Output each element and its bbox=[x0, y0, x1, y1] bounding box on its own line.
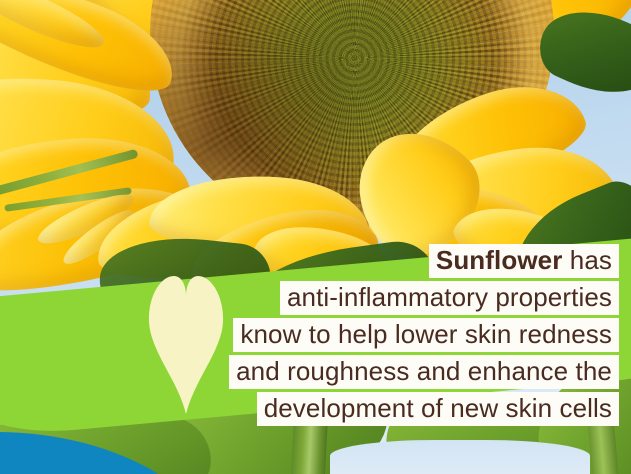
caption-text: know to help lower skin redness bbox=[240, 319, 612, 349]
caption-text: and roughness and enhance the bbox=[236, 356, 612, 386]
caption-text: anti-inflammatory properties bbox=[287, 282, 612, 312]
caption-line: and roughness and enhance the bbox=[0, 355, 619, 389]
image-canvas: Sunflower has anti-inflammatory properti… bbox=[0, 0, 631, 474]
caption-line: anti-inflammatory properties bbox=[0, 281, 619, 315]
caption-chip: development of new skin cells bbox=[257, 392, 619, 426]
caption-bold-word: Sunflower bbox=[436, 245, 563, 275]
caption-line: development of new skin cells bbox=[0, 392, 619, 426]
caption-chip: Sunflower has bbox=[429, 244, 619, 278]
caption-chip: know to help lower skin redness bbox=[233, 318, 619, 352]
caption-chip: and roughness and enhance the bbox=[229, 355, 619, 389]
caption-chip: anti-inflammatory properties bbox=[280, 281, 619, 315]
caption-text: development of new skin cells bbox=[264, 393, 612, 423]
caption-block: Sunflower has anti-inflammatory properti… bbox=[0, 244, 631, 429]
caption-line: know to help lower skin redness bbox=[0, 318, 619, 352]
caption-line: Sunflower has bbox=[0, 244, 619, 278]
sky-patch-bottom bbox=[330, 440, 590, 474]
caption-text: has bbox=[562, 245, 612, 275]
